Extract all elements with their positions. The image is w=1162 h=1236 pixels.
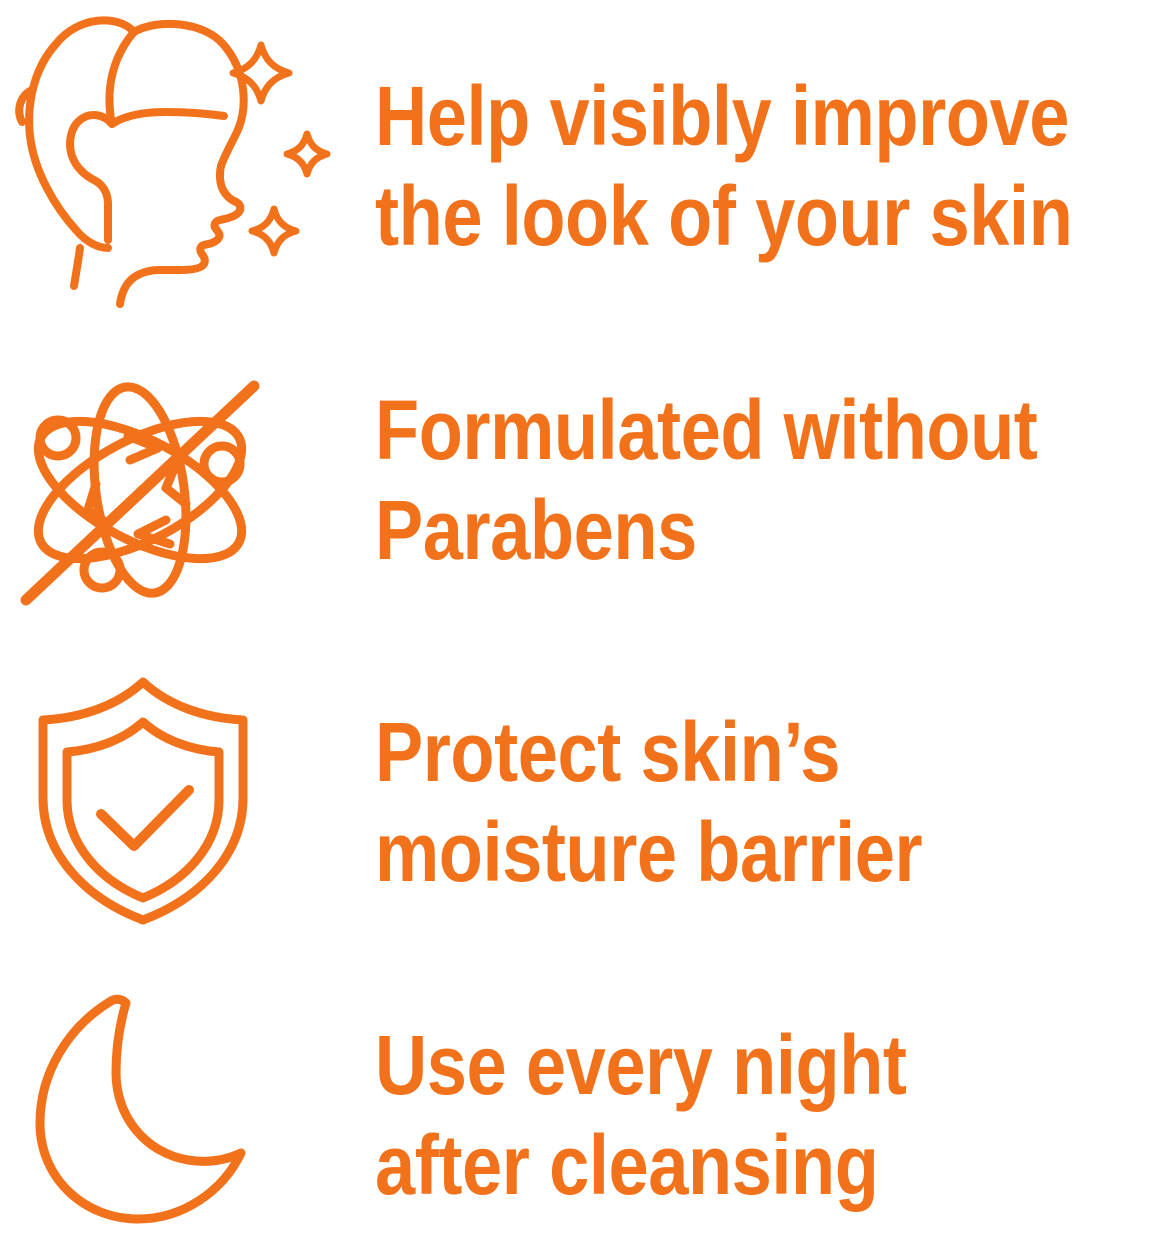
benefit-text-moisture-barrier: Protect skin’s moisture barrier [375, 702, 922, 902]
sparkle-small-icon [252, 209, 296, 253]
benefit-text-improve-skin: Help visibly improve the look of your sk… [375, 66, 1072, 266]
benefit-line-1: Formulated without [375, 380, 1037, 480]
benefit-row-use-at-night: Use every night after cleansing [0, 965, 1162, 1236]
check-mark-icon [101, 790, 189, 846]
benefit-row-no-parabens: Formulated without Parabens [0, 340, 1162, 630]
benefit-text-no-parabens: Formulated without Parabens [375, 380, 1037, 580]
shield-inner-outline [67, 722, 219, 898]
crescent-moon-icon [28, 993, 268, 1223]
benefit-line-2: moisture barrier [375, 802, 922, 902]
sparkle-medium-icon [287, 134, 327, 174]
benefit-line-1: Help visibly improve [375, 66, 1072, 166]
product-benefits-panel: Help visibly improve the look of your sk… [0, 0, 1162, 1236]
benefit-row-improve-skin: Help visibly improve the look of your sk… [0, 0, 1162, 320]
benefit-line-2: after cleansing [375, 1115, 907, 1215]
no-parabens-atom-icon [10, 368, 280, 618]
sparkle-large-icon [233, 45, 289, 101]
benefit-line-1: Protect skin’s [375, 702, 922, 802]
moon-outline [40, 999, 241, 1219]
sparkle-group-icon [228, 40, 338, 270]
benefit-text-use-at-night: Use every night after cleansing [375, 1015, 907, 1215]
benefit-line-2: Parabens [375, 480, 1037, 580]
benefit-line-2: the look of your skin [375, 166, 1072, 266]
benefit-line-1: Use every night [375, 1015, 907, 1115]
shield-check-icon [33, 676, 253, 926]
benefit-row-moisture-barrier: Protect skin’s moisture barrier [0, 650, 1162, 950]
